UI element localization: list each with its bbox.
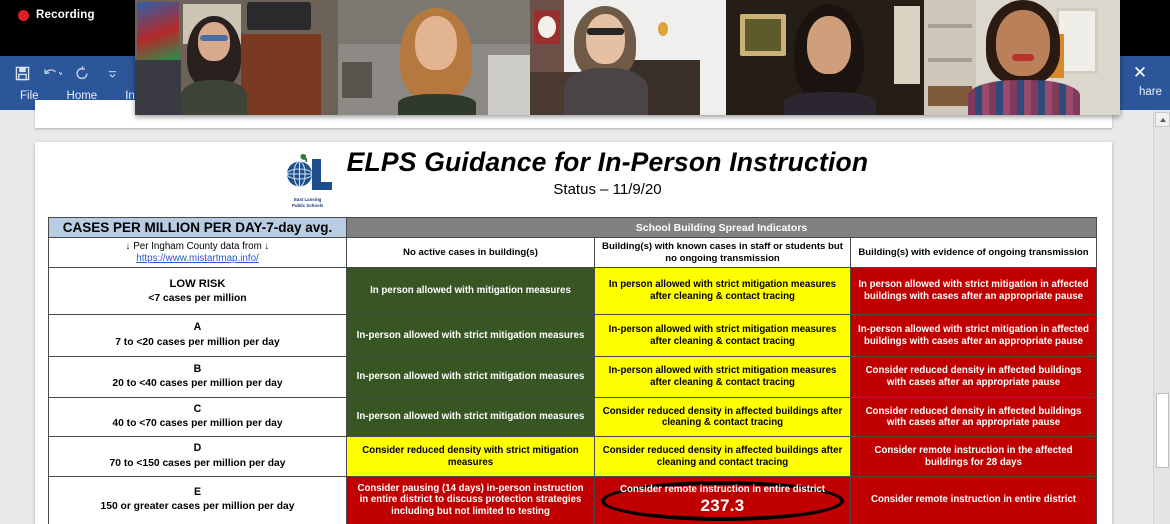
cell-c-ongoing-transmission: Consider reduced density in affected bui… — [851, 398, 1097, 437]
table-header-row-top: CASES PER MILLION PER DAY-7-day avg. Sch… — [49, 218, 1097, 238]
header-school-building-spread-indicators: School Building Spread Indicators — [347, 218, 1097, 238]
cell-c-no-active-cases: In-person allowed with strict mitigation… — [347, 398, 595, 437]
column-header-known-cases: Building(s) with known cases in staff or… — [595, 238, 851, 268]
row-label-low-risk: LOW RISK <7 cases per million — [49, 268, 347, 315]
table-header-row-columns: ↓ Per Ingham County data from ↓ https://… — [49, 238, 1097, 268]
quick-access-toolbar — [8, 60, 126, 86]
undo-icon[interactable] — [38, 60, 66, 86]
cell-b-ongoing-transmission: Consider reduced density in affected bui… — [851, 357, 1097, 398]
cell-b-known-cases: In-person allowed with strict mitigation… — [595, 357, 851, 398]
video-participant-strip — [135, 0, 1120, 115]
row-label-e: E 150 or greater cases per million per d… — [49, 476, 347, 524]
cell-a-ongoing-transmission: In-person allowed with strict mitigation… — [851, 315, 1097, 357]
cell-a-known-cases: In-person allowed with strict mitigation… — [595, 315, 851, 357]
logo-caption: East Lansing Public Schools — [279, 197, 337, 208]
table-row: C 40 to <70 cases per million per day In… — [49, 398, 1097, 437]
table-row: D 70 to <150 cases per million per day C… — [49, 437, 1097, 476]
table-row: B 20 to <40 cases per million per day In… — [49, 357, 1097, 398]
save-icon[interactable] — [8, 60, 36, 86]
header-cases-per-million: CASES PER MILLION PER DAY-7-day avg. — [49, 218, 347, 238]
page-title: ELPS Guidance for In-Person Instruction — [347, 148, 869, 177]
row-label-b: B 20 to <40 cases per million per day — [49, 357, 347, 398]
chevron-up-icon[interactable] — [1155, 112, 1170, 127]
video-tile-participant-3[interactable] — [530, 0, 726, 115]
guidance-table: CASES PER MILLION PER DAY-7-day avg. Sch… — [48, 217, 1097, 524]
video-tile-participant-1[interactable] — [135, 0, 338, 115]
redo-icon[interactable] — [68, 60, 96, 86]
cell-e-known-cases-text: Consider remote instruction in entire di… — [620, 484, 825, 495]
data-source-text: ↓ Per Ingham County data from ↓ — [126, 241, 270, 252]
share-button[interactable]: hare — [1139, 86, 1162, 98]
slide-header: East Lansing Public Schools ELPS Guidanc… — [35, 142, 1112, 208]
cell-e-known-cases: Consider remote instruction in entire di… — [595, 476, 851, 524]
cell-d-no-active-cases: Consider reduced density with strict mit… — [347, 437, 595, 476]
east-lansing-public-schools-logo: East Lansing Public Schools — [279, 152, 337, 208]
row-label-a: A 7 to <20 cases per million per day — [49, 315, 347, 357]
table-row: LOW RISK <7 cases per million In person … — [49, 268, 1097, 315]
status-subtitle: Status – 11/9/20 — [347, 182, 869, 199]
title-block: ELPS Guidance for In-Person Instruction … — [347, 148, 869, 199]
video-tile-participant-5[interactable] — [924, 0, 1120, 115]
current-case-rate-value: 237.3 — [600, 496, 845, 516]
cell-lowrisk-known-cases: In person allowed with strict mitigation… — [595, 268, 851, 315]
recording-label: Recording — [36, 9, 95, 21]
cell-e-ongoing-transmission: Consider remote instruction in entire di… — [851, 476, 1097, 524]
table-row: A 7 to <20 cases per million per day In-… — [49, 315, 1097, 357]
close-icon[interactable]: ✕ — [1118, 58, 1162, 86]
row-label-d: D 70 to <150 cases per million per day — [49, 437, 347, 476]
cell-lowrisk-ongoing-transmission: In person allowed with strict mitigation… — [851, 268, 1097, 315]
column-header-ongoing-transmission: Building(s) with evidence of ongoing tra… — [851, 238, 1097, 268]
data-source-cell: ↓ Per Ingham County data from ↓ https://… — [49, 238, 347, 268]
cell-d-known-cases: Consider reduced density in affected bui… — [595, 437, 851, 476]
slide-editing-area: East Lansing Public Schools ELPS Guidanc… — [0, 110, 1170, 524]
cell-a-no-active-cases: In-person allowed with strict mitigation… — [347, 315, 595, 357]
scrollbar-thumb[interactable] — [1156, 393, 1169, 468]
row-label-c: C 40 to <70 cases per million per day — [49, 398, 347, 437]
customize-quick-access-icon[interactable] — [98, 60, 126, 86]
cell-d-ongoing-transmission: Consider remote instruction in the affec… — [851, 437, 1097, 476]
cell-e-no-active-cases: Consider pausing (14 days) in-person ins… — [347, 476, 595, 524]
cell-lowrisk-no-active-cases: In person allowed with mitigation measur… — [347, 268, 595, 315]
table-row: E 150 or greater cases per million per d… — [49, 476, 1097, 524]
cell-c-known-cases: Consider reduced density in affected bui… — [595, 398, 851, 437]
cell-b-no-active-cases: In-person allowed with strict mitigation… — [347, 357, 595, 398]
recording-dot-icon — [18, 10, 29, 21]
powerpoint-window: Recording — [0, 0, 1170, 524]
video-tile-participant-4[interactable] — [726, 0, 924, 115]
mistartmap-link[interactable]: https://www.mistartmap.info/ — [136, 253, 259, 264]
vertical-scrollbar[interactable] — [1153, 110, 1170, 524]
slide-canvas[interactable]: East Lansing Public Schools ELPS Guidanc… — [35, 142, 1112, 524]
video-tile-participant-2[interactable] — [338, 0, 530, 115]
recording-indicator: Recording — [18, 9, 95, 21]
column-header-no-active-cases: No active cases in building(s) — [347, 238, 595, 268]
